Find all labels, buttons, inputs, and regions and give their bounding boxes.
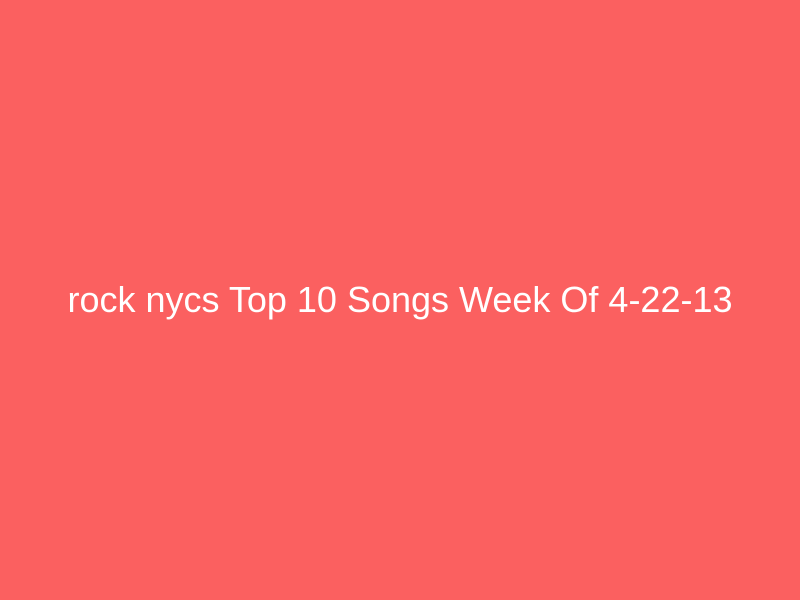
placeholder-card: rock nycs Top 10 Songs Week Of 4-22-13 [0, 0, 800, 600]
placeholder-caption: rock nycs Top 10 Songs Week Of 4-22-13 [67, 278, 732, 322]
